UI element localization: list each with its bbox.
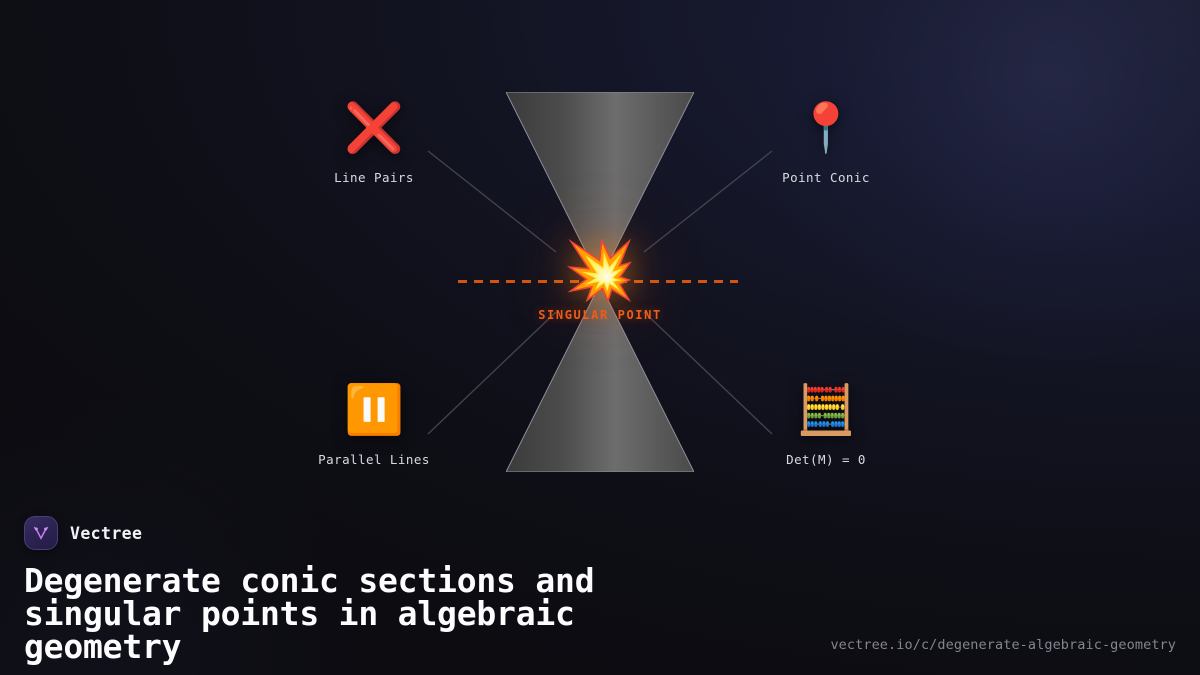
- node-determinant: 🧮 Det(M) = 0: [726, 386, 926, 467]
- hero-graphic: 💥 SINGULAR POINT ❌ Line Pairs 📍 Point Co…: [0, 0, 1200, 492]
- node-label-parallel-lines: Parallel Lines: [274, 452, 474, 467]
- pause-button-icon: ⏸️: [274, 386, 474, 448]
- node-line-pairs: ❌ Line Pairs: [274, 104, 474, 185]
- node-parallel-lines: ⏸️ Parallel Lines: [274, 386, 474, 467]
- node-label-determinant: Det(M) = 0: [726, 452, 926, 467]
- node-point-conic: 📍 Point Conic: [726, 104, 926, 185]
- vectree-v-node-icon: [24, 516, 58, 550]
- social-card: 💥 SINGULAR POINT ❌ Line Pairs 📍 Point Co…: [0, 0, 1200, 675]
- collision-burst-icon: 💥: [564, 241, 636, 299]
- brand-name: Vectree: [70, 524, 142, 543]
- source-url: vectree.io/c/degenerate-algebraic-geomet…: [830, 637, 1176, 653]
- abacus-icon: 🧮: [726, 386, 926, 448]
- singular-point-label: SINGULAR POINT: [0, 308, 1200, 322]
- cross-mark-icon: ❌: [274, 104, 474, 166]
- round-pushpin-icon: 📍: [726, 104, 926, 166]
- card-footer: Vectree Degenerate conic sections and si…: [0, 492, 1200, 675]
- node-label-line-pairs: Line Pairs: [274, 170, 474, 185]
- node-label-point-conic: Point Conic: [726, 170, 926, 185]
- page-title: Degenerate conic sections and singular p…: [24, 564, 724, 663]
- brand: Vectree: [24, 516, 1176, 550]
